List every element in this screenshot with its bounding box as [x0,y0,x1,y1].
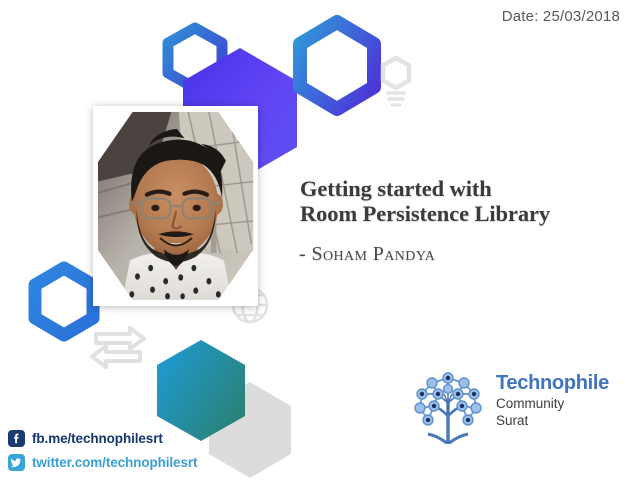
facebook-icon [8,430,25,447]
author-name: - Soham Pandya [299,243,435,266]
twitter-icon [8,454,25,471]
technophile-tree-logo [404,356,492,444]
technophile-logo: Technophile Community Surat [404,356,609,444]
page-title: Getting started with Room Persistence Li… [300,176,630,226]
twitter-label: twitter.com/technophilesrt [32,455,197,470]
logo-subtitle-community: Community [496,397,609,411]
title-line-1: Getting started with [300,176,492,201]
logo-text-block: Technophile Community Surat [496,373,609,427]
title-line-2: Room Persistence Library [300,201,630,226]
photo-hexagon-frame [93,106,258,306]
logo-subtitle-surat: Surat [496,414,609,428]
logo-brand: Technophile [496,373,609,393]
facebook-label: fb.me/technophilesrt [32,431,163,446]
social-links: fb.me/technophilesrt twitter.com/technop… [8,427,197,475]
social-link-twitter[interactable]: twitter.com/technophilesrt [8,451,197,473]
social-link-facebook[interactable]: fb.me/technophilesrt [8,427,197,449]
speaker-photo [93,106,258,306]
hexagon-outline-large [300,22,374,109]
presentation-slide: Date: 25/03/2018 [0,0,640,480]
lightbulb-icon [383,58,409,105]
hexagon-outline-blue [35,268,93,335]
date-label: Date: 25/03/2018 [502,8,620,25]
exchange-arrows-icon [92,328,144,367]
